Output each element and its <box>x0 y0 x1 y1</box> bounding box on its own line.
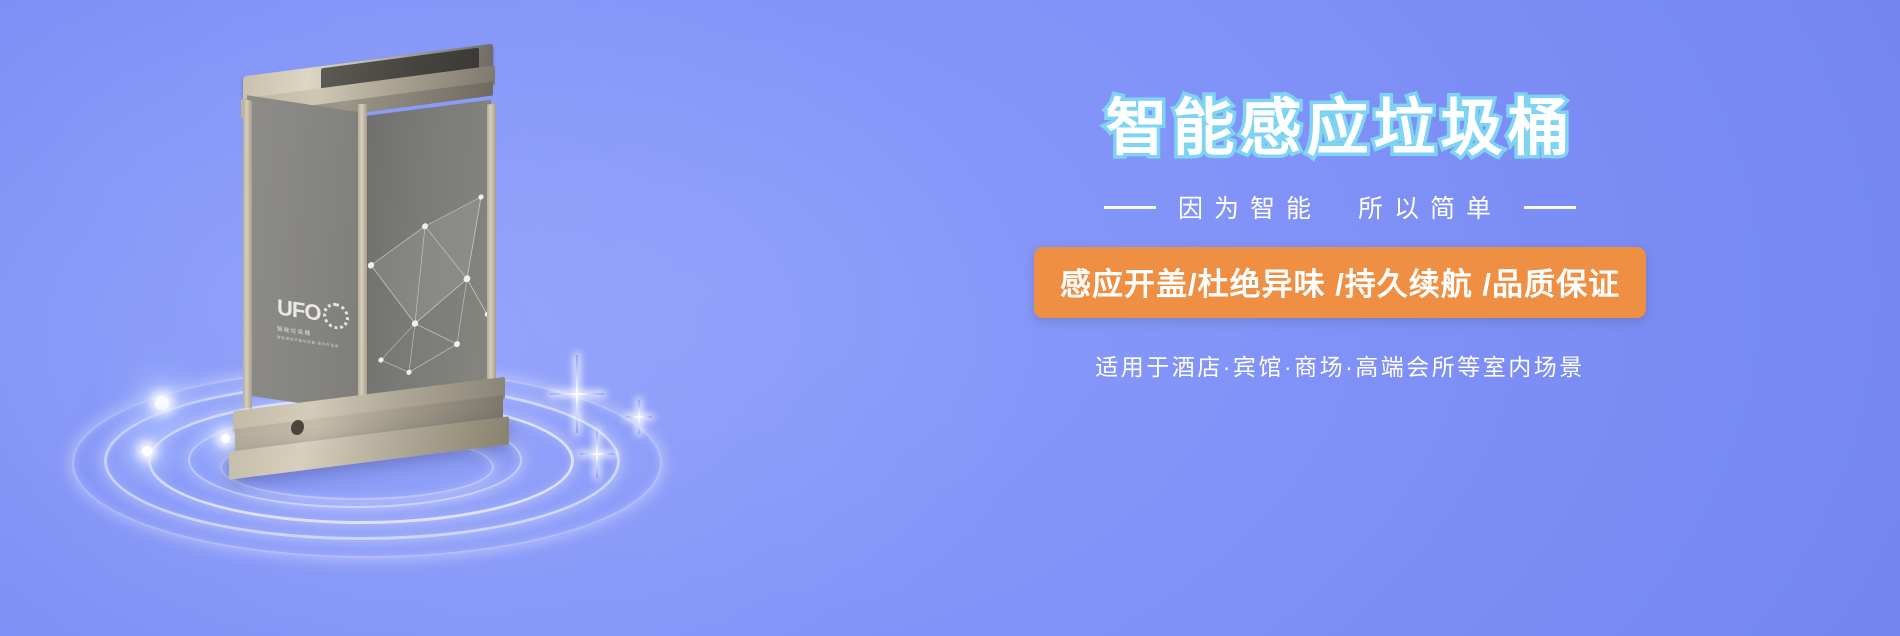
subtitle: 因为智能 所以简单 <box>1178 189 1502 225</box>
usage-scenario-text: 适用于酒店·宾馆·商场·高端会所等室内场景 <box>880 348 1800 382</box>
feature-badge-label: 感应开盖/杜绝异味 /持久续航 /品质保证 <box>1060 267 1620 302</box>
smart-trash-bin: UFO 智能垃圾桶 智能感应开盖垃圾桶·室内外适用 <box>225 38 505 438</box>
glow-dot-icon <box>142 446 152 456</box>
brand-logo-ring-icon <box>323 301 349 331</box>
subtitle-row: 因为智能 所以简单 <box>880 189 1800 225</box>
glow-dot-icon <box>155 396 169 410</box>
product-illustration: UFO 智能垃圾桶 智能感应开盖垃圾桶·室内外适用 <box>70 30 730 590</box>
dash-right-icon <box>1524 206 1576 209</box>
brand-logo-text: UFO <box>277 296 320 325</box>
dash-left-icon <box>1104 206 1156 209</box>
feature-badge: 感应开盖/杜绝异味 /持久续航 /品质保证 <box>1034 247 1646 318</box>
bin-edge-post-right <box>487 103 496 410</box>
promo-banner: UFO 智能垃圾桶 智能感应开盖垃圾桶·室内外适用 智能感应垃圾桶 因为智能 所… <box>0 0 1900 636</box>
polygon-network-graphic <box>363 100 491 417</box>
bin-panel-left <box>247 95 363 413</box>
banner-copy-block: 智能感应垃圾桶 因为智能 所以简单 感应开盖/杜绝异味 /持久续航 /品质保证 … <box>880 96 1800 382</box>
bin-panel-right <box>363 100 491 417</box>
bin-edge-post-left <box>243 99 252 408</box>
bin-edge-post-center <box>358 104 367 412</box>
page-title: 智能感应垃圾桶 <box>880 96 1800 161</box>
